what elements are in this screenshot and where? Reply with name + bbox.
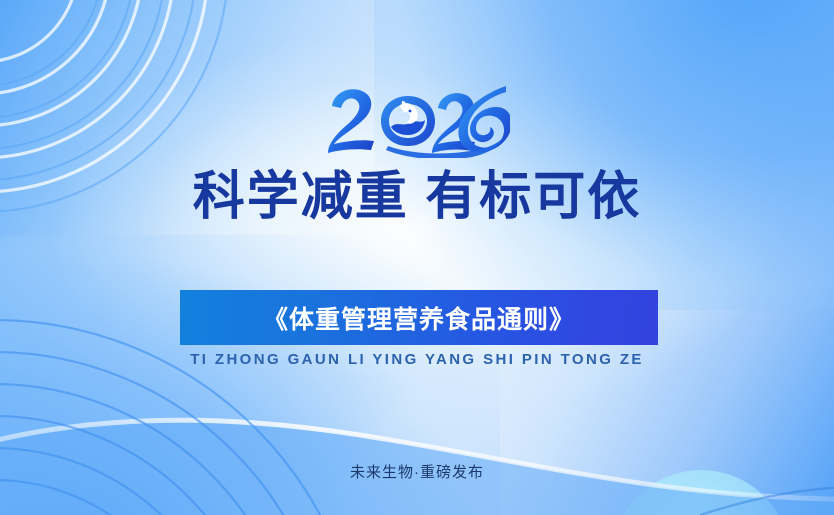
year-logo-2026 <box>0 84 834 158</box>
publisher-footer: 未来生物·重磅发布 <box>0 461 834 482</box>
page-title: 科学减重 有标可依 <box>0 165 834 229</box>
pinyin-subtitle: TI ZHONG GAUN LI YING YANG SHI PIN TONG … <box>0 351 834 368</box>
promotional-poster: 科学减重 有标可依 《体重管理营养食品通则》 TI ZHONG GAUN LI … <box>0 0 834 515</box>
standard-title-text: 《体重管理营养食品通则》 <box>263 300 575 336</box>
standard-title-banner: 《体重管理营养食品通则》 <box>180 290 658 345</box>
